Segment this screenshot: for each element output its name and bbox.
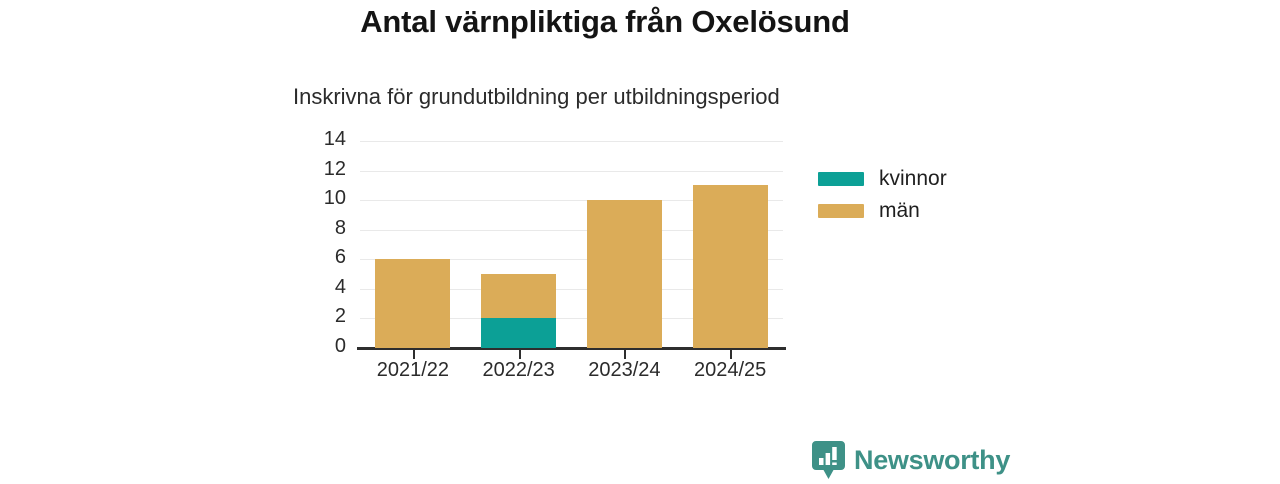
bar-segment-män[interactable] (693, 185, 768, 348)
x-axis-tick (519, 350, 521, 359)
x-axis-tick-label: 2023/24 (564, 359, 684, 382)
chart-bubble-icon (812, 441, 845, 479)
bar-2024-25[interactable] (693, 141, 768, 348)
x-axis-tick (624, 350, 626, 359)
x-axis-tick (730, 350, 732, 359)
x-axis-tick-label: 2024/25 (670, 359, 790, 382)
bar-2022-23[interactable] (481, 141, 556, 348)
newsworthy-logo[interactable]: Newsworthy (812, 441, 1010, 479)
legend-item-män[interactable]: män (818, 195, 947, 227)
y-axis-tick-label: 2 (300, 305, 346, 328)
logo-wordmark: Newsworthy (854, 445, 1010, 476)
chart-container: Antal värnpliktiga från Oxelösund Inskri… (0, 0, 1280, 480)
legend-label: män (879, 199, 920, 223)
y-axis-tick-label: 14 (300, 128, 346, 151)
x-axis-tick-label: 2021/22 (353, 359, 473, 382)
bar-segment-män[interactable] (375, 259, 450, 348)
bar-2023-24[interactable] (587, 141, 662, 348)
x-axis-tick-label: 2022/23 (459, 359, 579, 382)
bar-segment-män[interactable] (587, 200, 662, 348)
legend-label: kvinnor (879, 167, 947, 191)
y-axis-tick-label: 4 (300, 276, 346, 299)
chart-legend: kvinnormän (818, 163, 947, 227)
bar-segment-män[interactable] (481, 274, 556, 318)
x-axis-tick (413, 350, 415, 359)
y-axis-tick-label: 10 (300, 187, 346, 210)
y-axis-tick-label: 6 (300, 246, 346, 269)
chart-title: Antal värnpliktiga från Oxelösund (0, 4, 1210, 40)
y-axis-tick-label: 0 (300, 335, 346, 358)
y-axis-tick-label: 12 (300, 158, 346, 181)
bar-segment-kvinnor[interactable] (481, 318, 556, 348)
legend-swatch-kvinnor (818, 172, 864, 186)
bar-2021-22[interactable] (375, 141, 450, 348)
legend-item-kvinnor[interactable]: kvinnor (818, 163, 947, 195)
legend-swatch-män (818, 204, 864, 218)
chart-subtitle: Inskrivna för grundutbildning per utbild… (293, 84, 780, 110)
y-axis-tick-label: 8 (300, 217, 346, 240)
